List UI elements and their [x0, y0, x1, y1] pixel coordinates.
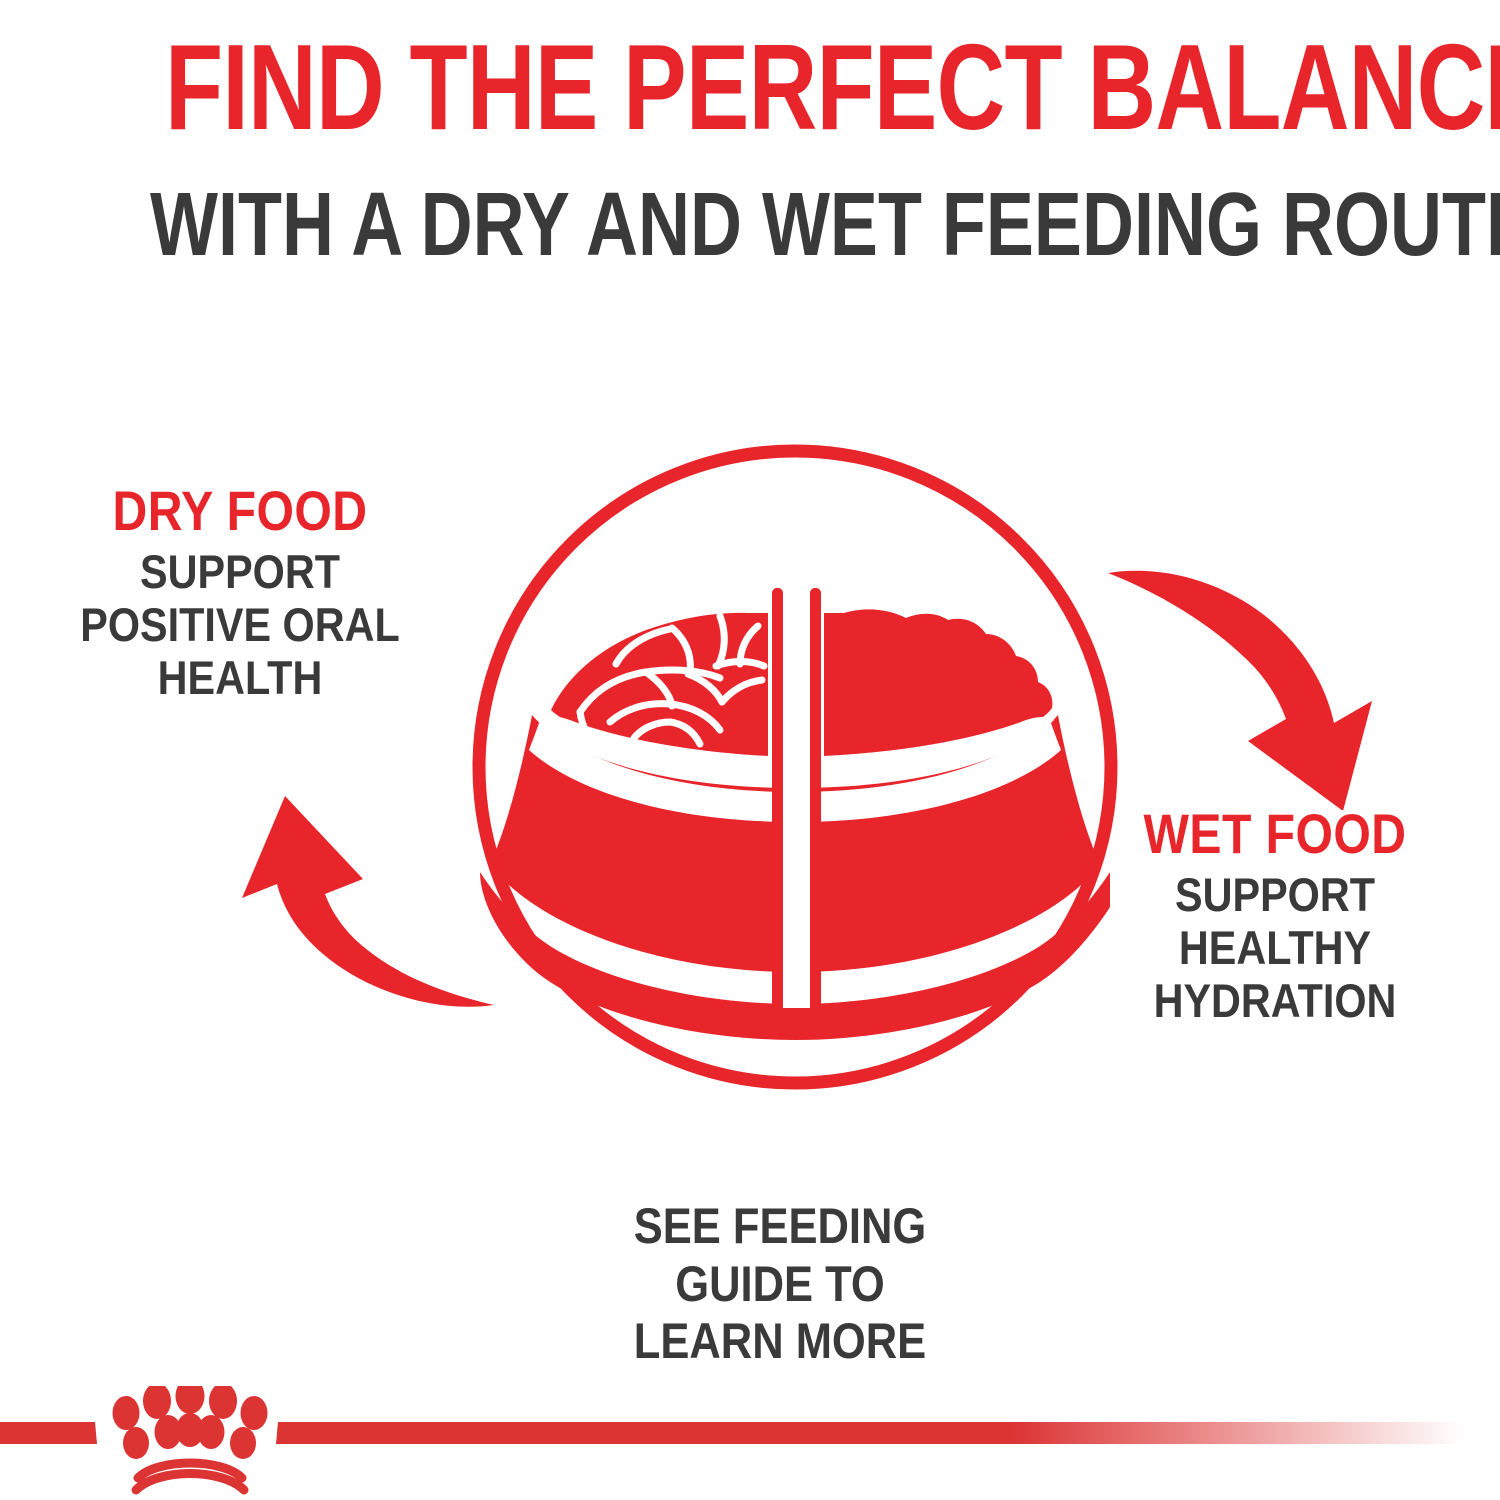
crown-logo	[113, 1386, 268, 1490]
crown-dot-mid-1	[123, 1427, 149, 1459]
dry-food-description: SUPPORT POSITIVE ORAL HEALTH	[55, 545, 425, 704]
footer-bar-left	[0, 1422, 97, 1444]
divided-food-bowl-illustration	[420, 420, 1180, 1120]
footer-bar-right	[276, 1422, 1500, 1444]
divider-line-right-2	[810, 588, 821, 1008]
crown-arc-lower	[136, 1474, 244, 1491]
footer-brand-bar	[0, 1386, 1500, 1500]
curved-arrow-down-right-icon	[1100, 545, 1400, 810]
divider-gap	[783, 588, 810, 1008]
dry-food-block: DRY FOOD SUPPORT POSITIVE ORAL HEALTH	[30, 482, 450, 704]
dry-food-title: DRY FOOD	[59, 482, 420, 539]
poster-root: FIND THE PERFECT BALANCE WITH A DRY AND …	[0, 0, 1500, 1500]
dry-kibble-mound	[540, 613, 768, 768]
crown-dot-mid-center	[176, 1413, 204, 1447]
page-headline: FIND THE PERFECT BALANCE	[165, 26, 1335, 148]
crown-dot-mid-4	[230, 1427, 256, 1459]
see-feeding-guide-caption: SEE FEEDING GUIDE TO LEARN MORE	[576, 1198, 985, 1371]
crown-dot-top-4	[209, 1386, 237, 1419]
crown-dot-top-3	[176, 1386, 205, 1414]
crown-dot-top-5	[241, 1396, 268, 1430]
crown-dot-top-1	[113, 1396, 140, 1430]
crown-dot-top-2	[143, 1386, 171, 1419]
divider-line-left-2	[772, 588, 783, 1008]
page-subheadline: WITH A DRY AND WET FEEDING ROUTINE	[150, 180, 1350, 270]
